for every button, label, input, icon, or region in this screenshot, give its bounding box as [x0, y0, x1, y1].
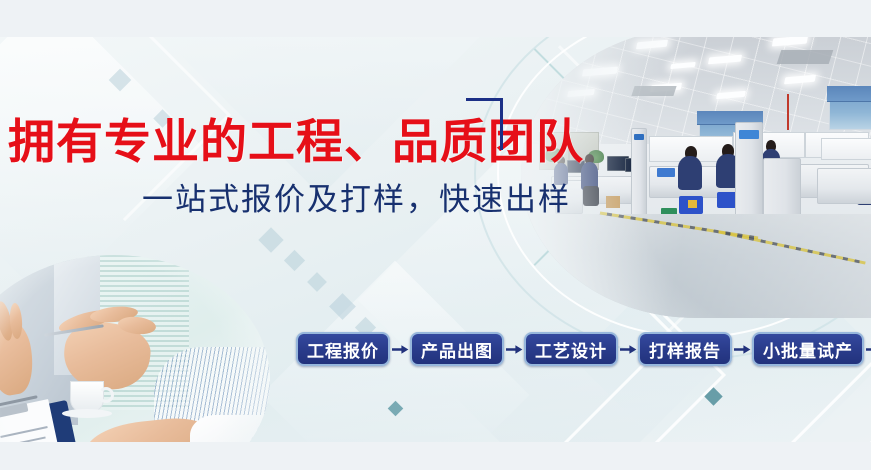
flow-arrow-icon: [618, 332, 638, 366]
promotional-banner: 拥有专业的工程、品质团队 一站式报价及打样，快速出样 工程报价产品出图工艺设计打…: [0, 0, 871, 470]
process-step-5[interactable]: 小批量试产: [752, 332, 864, 366]
flow-arrow-icon: [732, 332, 752, 366]
flow-arrow-icon: [864, 332, 871, 366]
process-step-4[interactable]: 打样报告: [638, 332, 732, 366]
flow-arrow-icon: [504, 332, 524, 366]
top-strip: [0, 0, 871, 37]
corner-bracket-icon: [466, 98, 503, 150]
office-photo: [521, 28, 871, 318]
meeting-photo: [0, 255, 270, 470]
flow-arrow-icon: [390, 332, 410, 366]
process-step-1[interactable]: 工程报价: [296, 332, 390, 366]
bottom-strip: [0, 442, 871, 470]
process-flow: 工程报价产品出图工艺设计打样报告小批量试产批量量产: [296, 332, 871, 366]
page-subtitle: 一站式报价及打样，快速出样: [142, 184, 571, 215]
process-step-3[interactable]: 工艺设计: [524, 332, 618, 366]
process-step-2[interactable]: 产品出图: [410, 332, 504, 366]
